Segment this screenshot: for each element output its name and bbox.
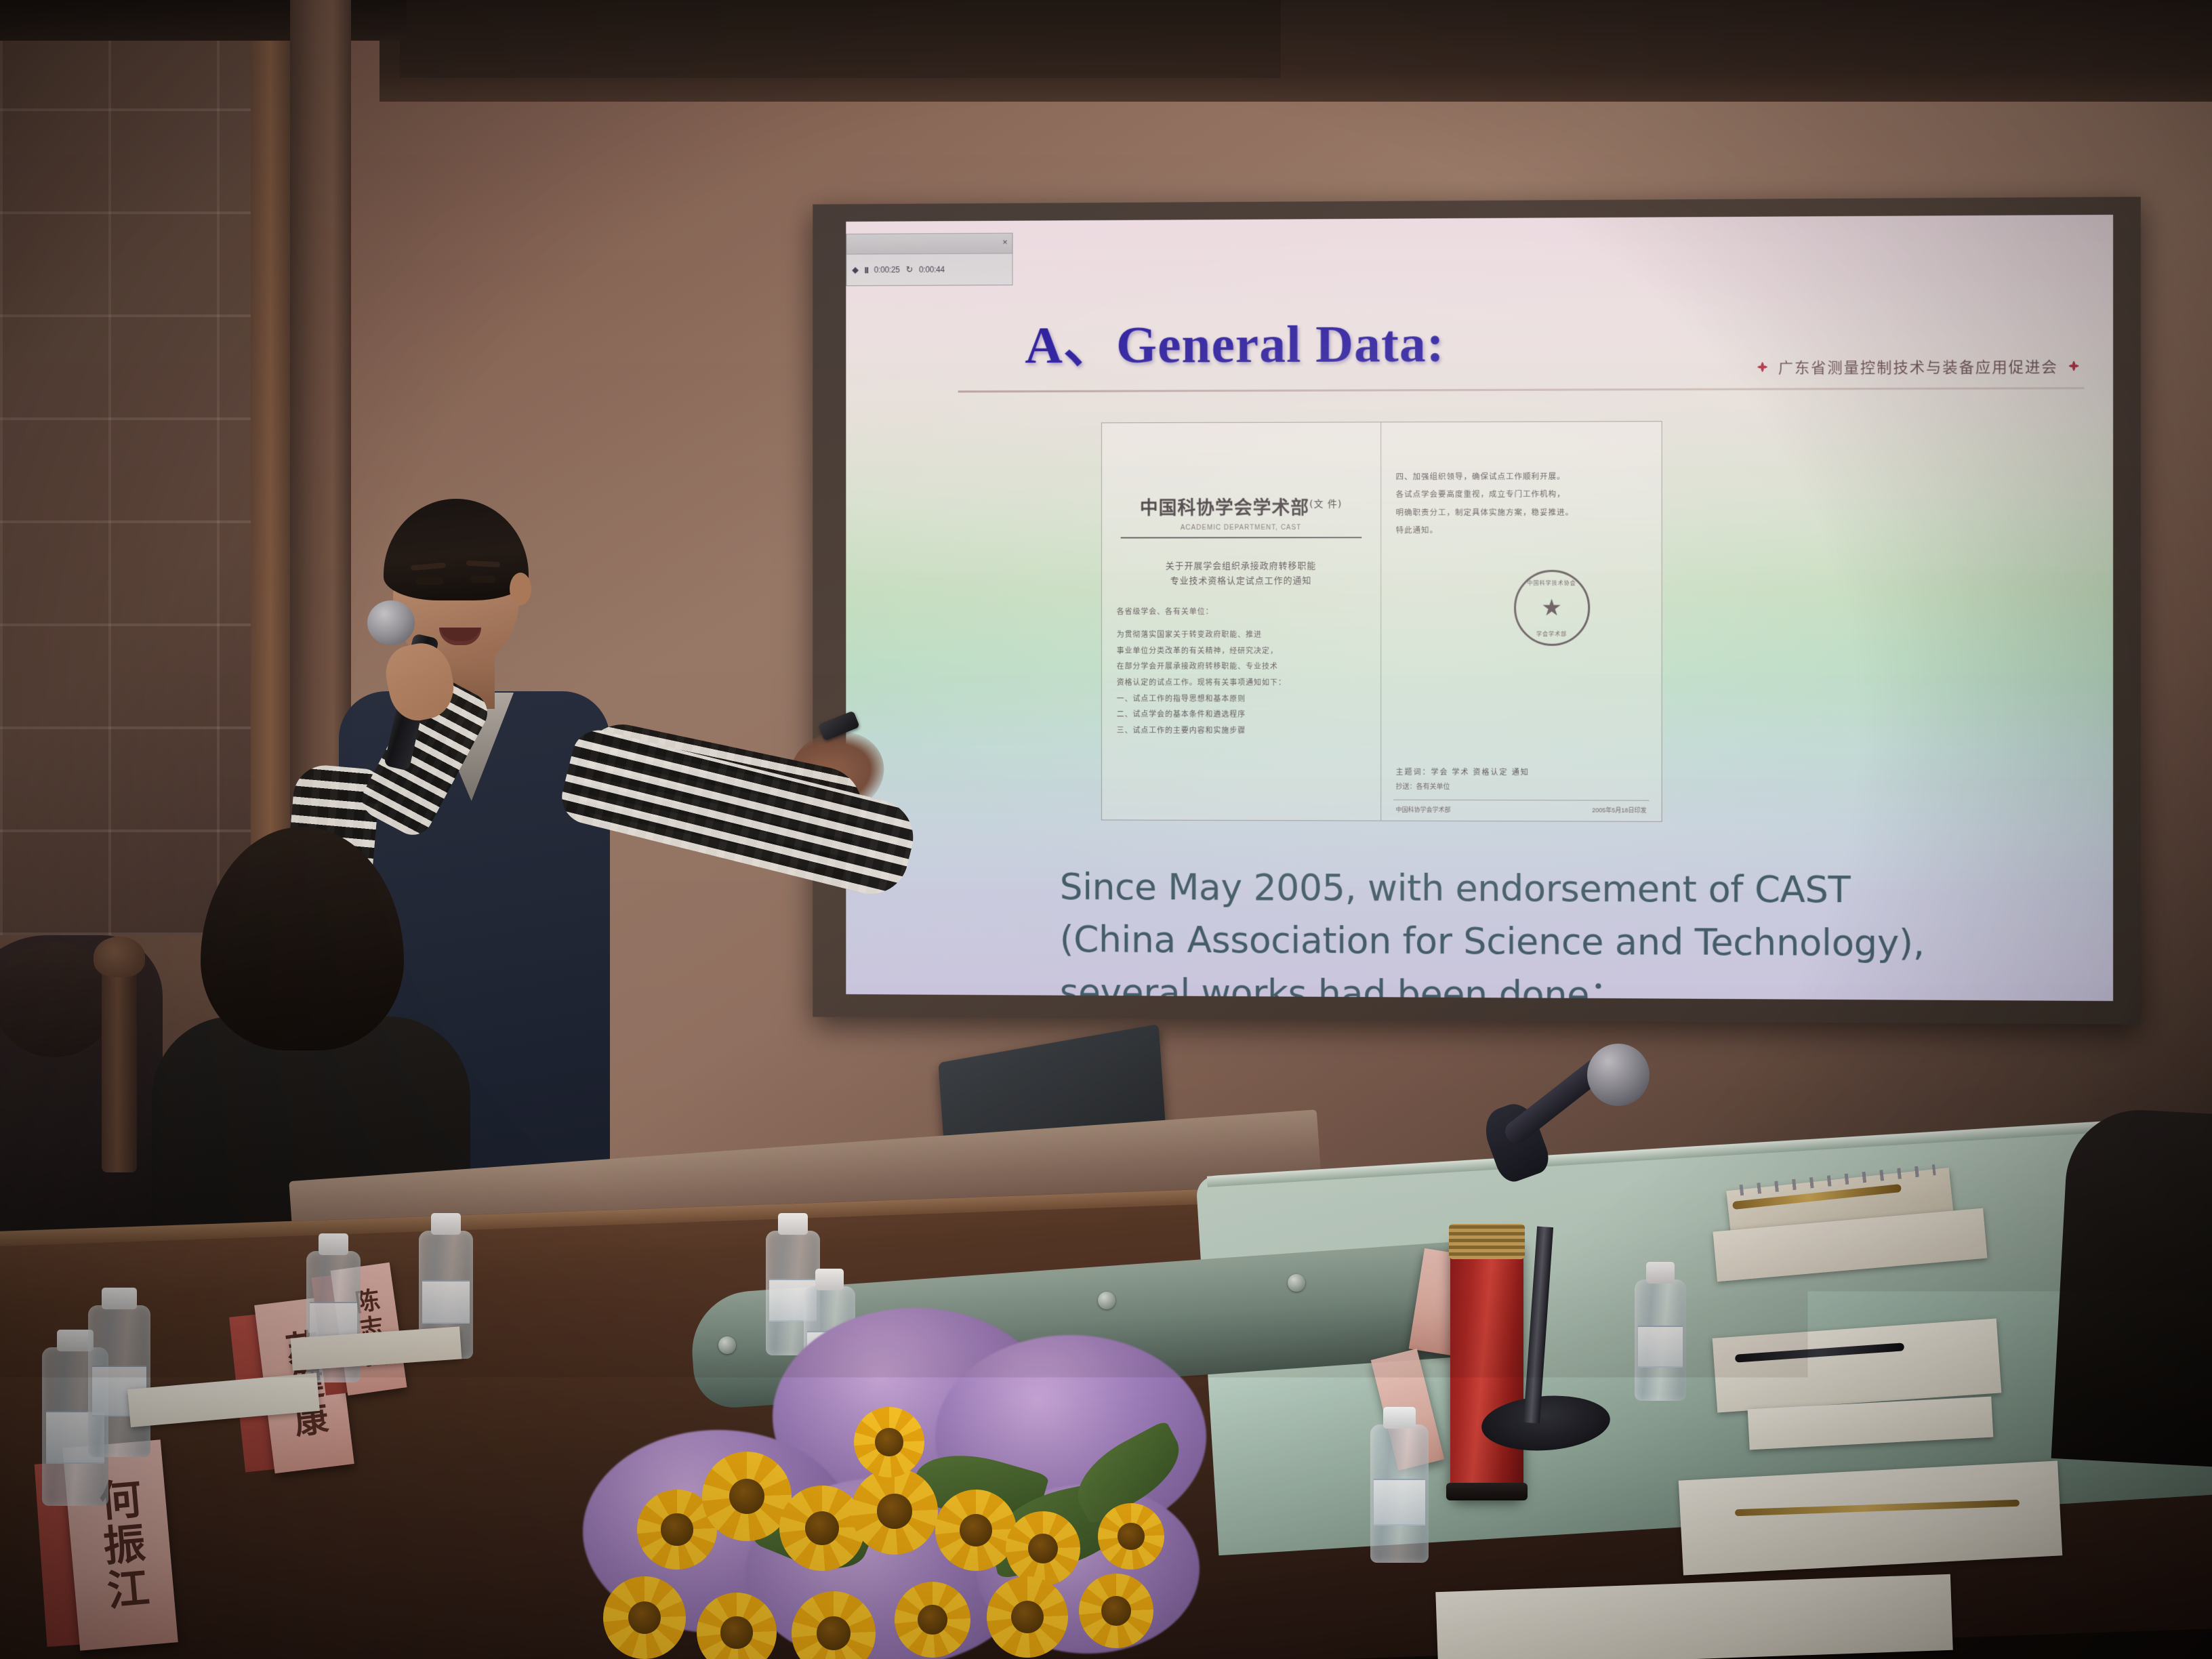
slide-title: A、General Data: <box>1025 301 1444 378</box>
sunflower-icon <box>697 1593 777 1659</box>
projection-screen-surface: × ◆ II 0:00:25 ↻ 0:00:44 A、General Data:… <box>846 215 2113 1001</box>
document-rule <box>1121 537 1361 538</box>
doc-line: 四、加强组织领导，确保试点工作顺利开展。 <box>1396 468 1647 486</box>
doc-line: 特此通知。 <box>1396 522 1647 540</box>
doc-line: 各试点学会要高度重视，成立专门工作机构， <box>1396 486 1647 504</box>
presenter-eye-left <box>416 577 443 585</box>
media-player-titlebar: × <box>846 234 1012 255</box>
document-footer-rule <box>1393 800 1650 801</box>
thermos-collar <box>1449 1224 1525 1259</box>
organization-banner: 广东省测量控制技术与装备应用促进会 <box>1752 355 2084 378</box>
document-right-page: 四、加强组织领导，确保试点工作顺利开展。 各试点学会要高度重视，成立专门工作机构… <box>1381 422 1662 821</box>
document-header: 中国科协学会学术部(文 件) <box>1117 493 1366 519</box>
microphone-icon <box>1587 1044 1650 1106</box>
doc-line: 事业单位分类改革的有关精神，经研究决定， <box>1117 644 1366 660</box>
footer-right: 2005年5月18日印发 <box>1592 805 1646 814</box>
presenter-ear <box>510 573 531 605</box>
sunflower-icon <box>603 1576 686 1659</box>
doc-line: 一、试点工作的指导思想和基本原则 <box>1117 691 1366 708</box>
media-player-controls[interactable]: ◆ II 0:00:25 ↻ 0:00:44 <box>846 253 1012 285</box>
document-signature-sub: 抄送：各有关单位 <box>1396 781 1450 791</box>
presenter-hair <box>384 499 529 600</box>
organization-name: 广东省测量控制技术与装备应用促进会 <box>1778 355 2058 378</box>
doc-line: 在部分学会开展承接政府转移职能、专业技术 <box>1117 659 1366 676</box>
document-body-left: 为贯彻落实国家关于转变政府职能、推进 事业单位分类改革的有关精神，经研究决定， … <box>1117 628 1366 739</box>
body-line-1: Since May 2005, with endorsement of CAST <box>1060 861 2065 918</box>
chair-back-post <box>102 949 137 1172</box>
sunflower-icon <box>1098 1503 1164 1570</box>
wall-upper-band-inner <box>400 0 1281 78</box>
subject-line-2: 专业技术资格认定试点工作的通知 <box>1117 573 1366 588</box>
document-subject: 关于开展学会组织承接政府转移职能 专业技术资格认定试点工作的通知 <box>1117 558 1366 588</box>
flower-arrangement <box>556 1308 1220 1659</box>
document-salutation: 各省级学会、各有关单位： <box>1117 606 1366 617</box>
doc-line: 明确职责分工，制定具体实施方案，稳妥推进。 <box>1396 504 1647 522</box>
water-bottle <box>88 1288 150 1457</box>
star-icon <box>1752 356 1772 377</box>
attendee-hair <box>201 827 404 1050</box>
thermos-base <box>1446 1483 1528 1500</box>
paper-sheet <box>1679 1460 2063 1575</box>
star-icon: ★ <box>1541 596 1562 619</box>
pause-icon[interactable]: II <box>865 265 868 275</box>
star-icon <box>2064 356 2084 376</box>
doc-line: 三、试点工作的主要内容和实施步骤 <box>1117 723 1366 739</box>
official-seal-icon: 中国科学技术协会 ★ 学会学术部 <box>1514 570 1590 646</box>
close-icon[interactable]: × <box>1002 238 1007 247</box>
document-subheader: ACADEMIC DEPARTMENT, CAST <box>1117 524 1366 531</box>
slide-body-text: Since May 2005, with endorsement of CAST… <box>1060 861 2065 1001</box>
document-footer: 中国科协学会学术部 2005年5月18日印发 <box>1396 805 1647 815</box>
document-header-sup: (文 件) <box>1309 499 1342 510</box>
rail-stud <box>1098 1292 1115 1309</box>
water-bottle <box>1370 1407 1429 1563</box>
doc-line: 二、试点学会的基本条件和遴选程序 <box>1117 708 1366 724</box>
conference-room-photo: × ◆ II 0:00:25 ↻ 0:00:44 A、General Data:… <box>0 0 2212 1659</box>
play-icon[interactable]: ◆ <box>852 264 859 275</box>
water-bottle <box>1635 1262 1686 1401</box>
body-line-3: several works had been done； <box>1060 965 2065 1001</box>
document-signature: 主题词：学会 学术 资格认定 通知 <box>1396 766 1530 777</box>
sunflower-icon <box>987 1576 1068 1658</box>
media-player-toolbar[interactable]: × ◆ II 0:00:25 ↻ 0:00:44 <box>846 233 1012 287</box>
seated-attendee-right <box>2051 1107 2212 1469</box>
body-line-2: (China Association for Science and Techn… <box>1060 913 2065 970</box>
presenter-eye-right <box>470 575 496 583</box>
title-divider <box>958 387 2085 392</box>
scanned-document-image: 中国科协学会学术部(文 件) ACADEMIC DEPARTMENT, CAST… <box>1101 421 1662 822</box>
projection-screen-frame: × ◆ II 0:00:25 ↻ 0:00:44 A、General Data:… <box>813 197 2141 1024</box>
sunflower-icon <box>851 1468 938 1555</box>
seal-top-text: 中国科学技术协会 <box>1516 579 1588 587</box>
loop-icon[interactable]: ↻ <box>906 264 914 275</box>
sunflower-icon <box>854 1407 924 1477</box>
rail-stud <box>1288 1274 1305 1292</box>
thermos-icon <box>1450 1240 1523 1498</box>
seal-bottom-text: 学会学术部 <box>1516 630 1588 638</box>
sunflower-icon <box>1006 1511 1080 1586</box>
elapsed-time: 0:00:25 <box>874 265 900 274</box>
subject-line-1: 关于开展学会组织承接政府转移职能 <box>1117 558 1366 573</box>
document-left-page: 中国科协学会学术部(文 件) ACADEMIC DEPARTMENT, CAST… <box>1102 422 1381 820</box>
sunflower-icon <box>935 1490 1017 1571</box>
document-body-right: 四、加强组织领导，确保试点工作顺利开展。 各试点学会要高度重视，成立专门工作机构… <box>1396 468 1647 539</box>
sunflower-icon <box>702 1452 792 1541</box>
sunflower-icon <box>895 1582 970 1658</box>
total-time: 0:00:44 <box>919 265 945 274</box>
doc-line: 资格认定的试点工作。现将有关事项通知如下： <box>1117 676 1366 692</box>
sunflower-icon <box>1079 1574 1153 1648</box>
sunflower-icon <box>792 1591 876 1659</box>
footer-left: 中国科协学会学术部 <box>1396 805 1451 814</box>
doc-line: 为贯彻落实国家关于转变政府职能、推进 <box>1117 628 1366 644</box>
microphone-icon <box>367 600 415 645</box>
